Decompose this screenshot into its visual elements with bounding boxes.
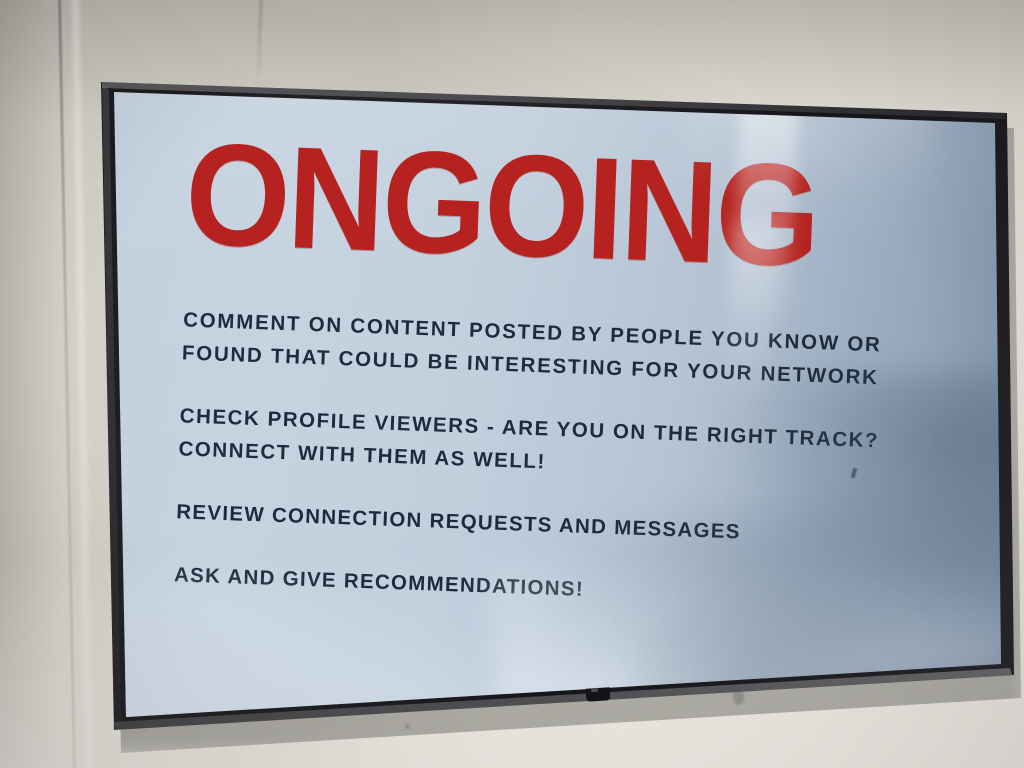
tv-screen[interactable]: ONGOING COMMENT ON CONTENT POSTED BY PEO… — [92, 72, 1022, 744]
photo-scene: ONGOING COMMENT ON CONTENT POSTED BY PEO… — [0, 0, 1024, 768]
ir-sensor-lens-icon — [591, 688, 598, 692]
